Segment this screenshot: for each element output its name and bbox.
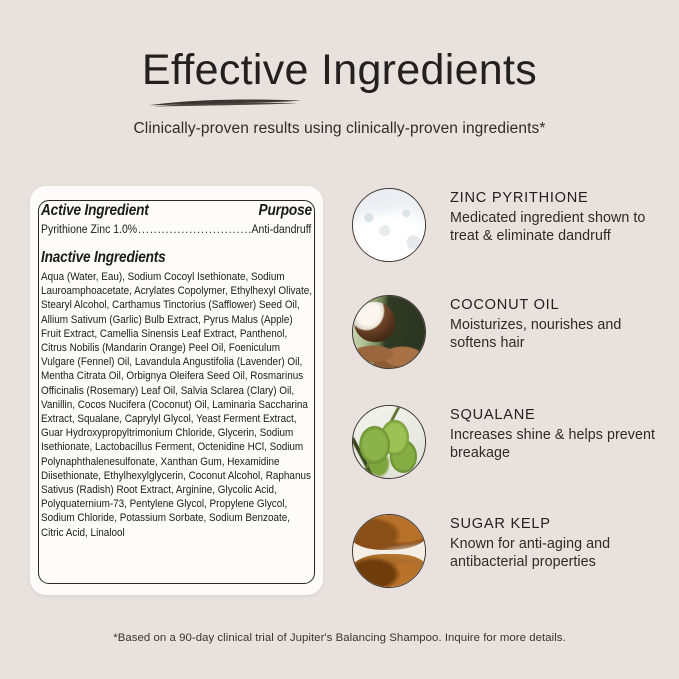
purpose-header: Purpose [259,202,312,220]
sugar-kelp-text: SUGAR KELP Known for anti-aging and anti… [450,516,662,571]
white-powder-photo [353,189,425,261]
squalane-image [352,405,426,479]
label-content: Active Ingredient Purpose Pyrithione Zin… [41,202,312,540]
ingredient-item-sugar-kelp: SUGAR KELP Known for anti-aging and anti… [352,514,662,604]
sugar-kelp-photo [353,515,425,587]
coconut-halves-photo [353,296,425,368]
leader-dots: ........................................… [138,222,251,236]
active-ingredient-name: Pyrithione Zinc 1.0% [41,222,137,236]
active-ingredient-header: Active Ingredient [41,202,149,220]
product-label-card: Active Ingredient Purpose Pyrithione Zin… [30,186,323,595]
sugar-kelp-image [352,514,426,588]
ingredient-item-coconut-oil: COCONUT OIL Moisturizes, nourishes and s… [352,295,662,385]
ingredient-name: COCONUT OIL [450,297,662,313]
green-olives-photo [353,406,425,478]
ingredient-description: Increases shine & helps prevent breakage [450,427,662,462]
title-underline-brushstroke [147,96,303,109]
active-ingredient-header-row: Active Ingredient Purpose [41,202,312,220]
inactive-ingredients-list: Aqua (Water, Eau), Sodium Cocoyl Isethio… [41,270,312,540]
squalane-text: SQUALANE Increases shine & helps prevent… [450,407,662,462]
ingredient-description: Moisturizes, nourishes and softens hair [450,317,662,352]
ingredient-description: Known for anti-aging and antibacterial p… [450,536,662,571]
ingredient-description: Medicated ingredient shown to treat & el… [450,210,662,245]
ingredient-name: SUGAR KELP [450,516,662,532]
coconut-oil-image [352,295,426,369]
page-subtitle: Clinically-proven results using clinical… [0,120,679,138]
ingredient-name: ZINC PYRITHIONE [450,190,662,206]
inactive-ingredients-header: Inactive Ingredients [41,249,312,267]
ingredient-item-zinc-pyrithione: ZINC PYRITHIONE Medicated ingredient sho… [352,188,662,278]
coconut-oil-text: COCONUT OIL Moisturizes, nourishes and s… [450,297,662,352]
ingredient-item-squalane: SQUALANE Increases shine & helps prevent… [352,405,662,495]
active-ingredient-purpose: Anti-dandruff [252,222,312,236]
page-title: Effective Ingredients [0,46,679,95]
active-ingredient-row: Pyrithione Zinc 1.0% ...................… [41,222,311,236]
footnote-disclaimer: *Based on a 90-day clinical trial of Jup… [0,632,679,644]
ingredient-name: SQUALANE [450,407,662,423]
ingredients-page: Effective Ingredients Clinically-proven … [0,0,679,679]
zinc-pyrithione-text: ZINC PYRITHIONE Medicated ingredient sho… [450,190,662,245]
zinc-pyrithione-image [352,188,426,262]
